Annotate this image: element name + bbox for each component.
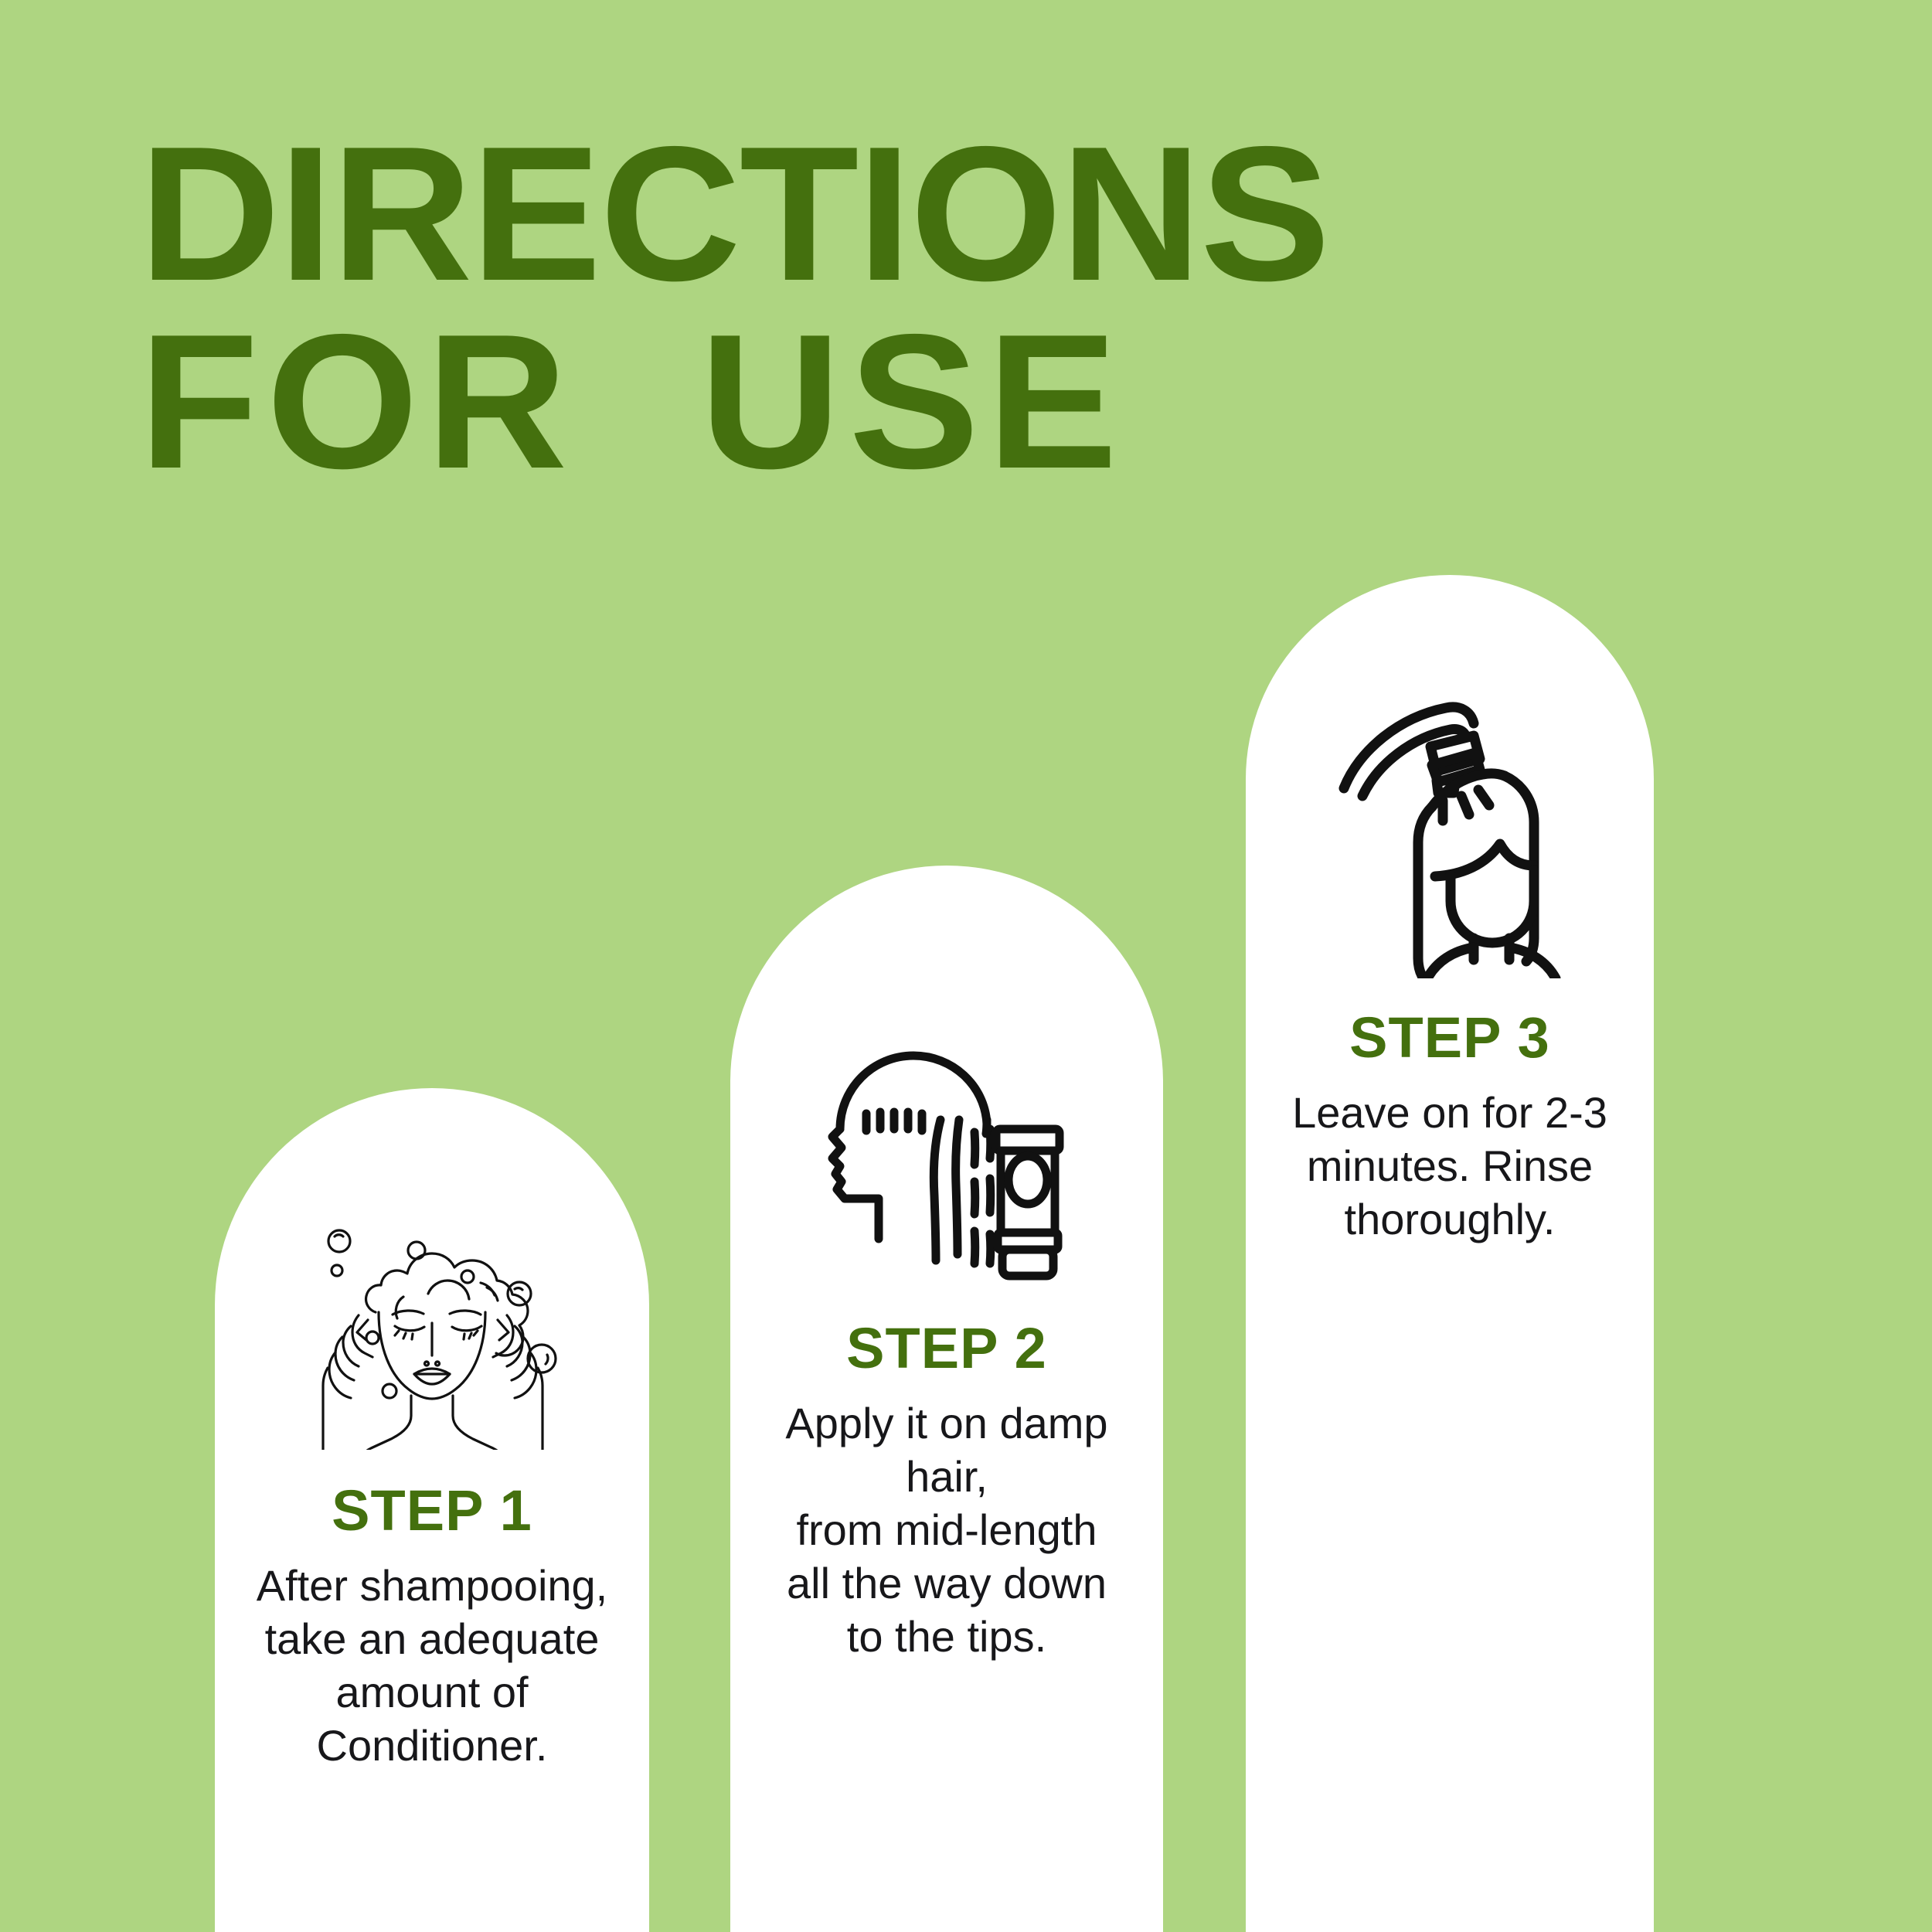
page-title-line-2: FOR USE xyxy=(139,308,1479,495)
step-card-2: STEP 2 Apply it on damp hair, from mid-l… xyxy=(730,866,1163,1932)
showerhead-rinsing-hair-icon xyxy=(1315,683,1585,978)
poster-canvas: DIRECTIONS FOR USE xyxy=(0,0,1932,1932)
step-title-2: STEP 2 xyxy=(846,1320,1047,1377)
head-profile-with-conditioner-tube-icon xyxy=(823,1045,1070,1286)
step-card-1: STEP 1 After shampooing, take an adequat… xyxy=(215,1088,649,1932)
step-title-3: STEP 3 xyxy=(1349,1009,1550,1066)
step-card-3: STEP 3 Leave on for 2-3 minutes. Rinse t… xyxy=(1246,575,1654,1932)
step-body-3: Leave on for 2-3 minutes. Rinse thorough… xyxy=(1278,1087,1621,1247)
step-title-1: STEP 1 xyxy=(332,1482,532,1539)
woman-shampooing-hair-icon xyxy=(304,1202,560,1450)
page-title: DIRECTIONS FOR USE xyxy=(139,120,1479,495)
page-title-line-1: DIRECTIONS xyxy=(139,120,1479,308)
step-body-2: Apply it on damp hair, from mid-length a… xyxy=(781,1397,1112,1663)
step-body-1: After shampooing, take an adequate amoun… xyxy=(246,1560,618,1773)
